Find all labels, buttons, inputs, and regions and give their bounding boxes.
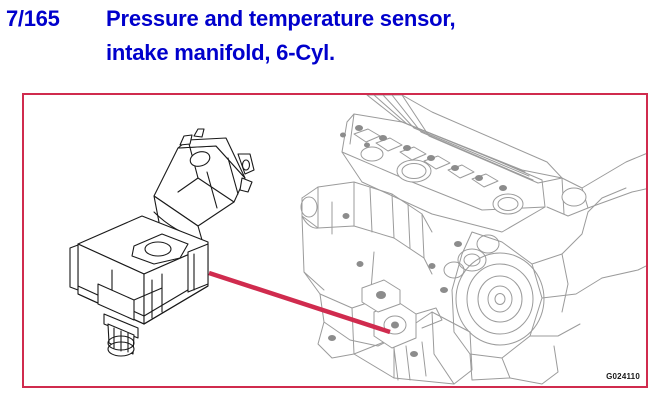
page-title-line-2: intake manifold, 6-Cyl. bbox=[106, 40, 335, 66]
figure-code: G024110 bbox=[606, 372, 640, 381]
page-title-line-1: Pressure and temperature sensor, bbox=[106, 6, 455, 32]
engine-drawing bbox=[301, 95, 648, 384]
figure-number: 7/165 bbox=[6, 6, 60, 32]
illustration-frame: G024110 bbox=[22, 93, 648, 388]
figure-title-block: 7/165 Pressure and temperature sensor, i… bbox=[0, 0, 664, 86]
technical-illustration bbox=[22, 93, 648, 388]
sensor-drawing bbox=[70, 129, 254, 356]
